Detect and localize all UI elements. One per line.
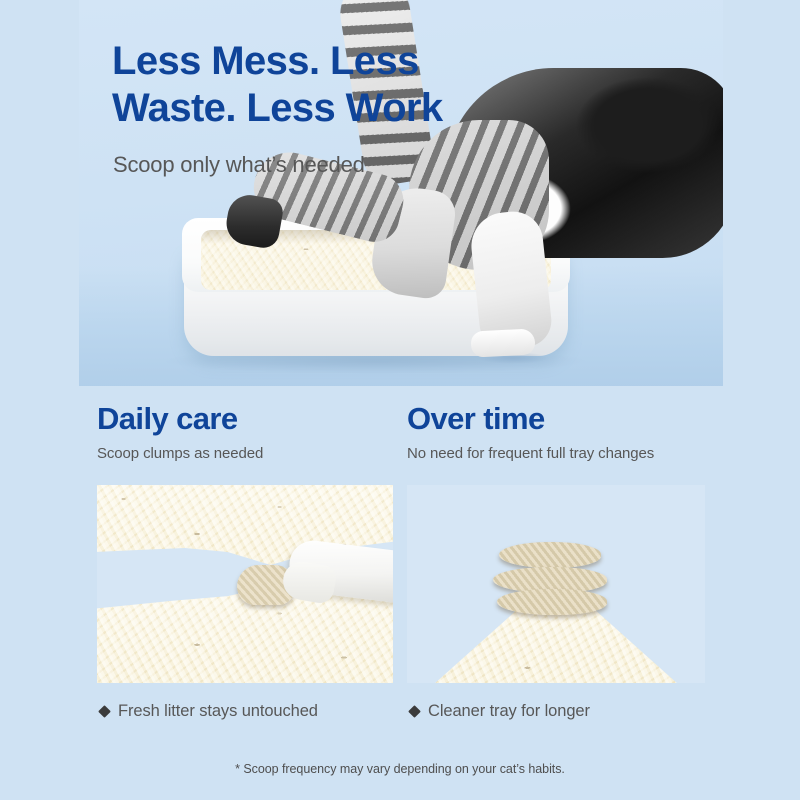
bullet-label: Fresh litter stays untouched <box>118 702 318 721</box>
bullet-fresh-litter: Fresh litter stays untouched <box>100 702 318 721</box>
clump-layer-top <box>499 542 601 568</box>
cat-rear-paw <box>470 328 535 357</box>
section-over-time-heading: Over time No need for frequent full tray… <box>407 400 705 462</box>
section-subtitle: No need for frequent full tray changes <box>407 445 705 462</box>
section-title: Over time <box>407 400 705 438</box>
promo-page: Less Mess. Less Waste. Less Work Scoop o… <box>0 0 800 800</box>
section-daily-care-heading: Daily care Scoop clumps as needed <box>97 400 393 462</box>
cat-lifted-paw <box>223 192 285 251</box>
bullet-cleaner-tray: Cleaner tray for longer <box>410 702 590 721</box>
section-title: Daily care <box>97 400 393 438</box>
daily-care-photo <box>97 485 393 683</box>
page-title: Less Mess. Less Waste. Less Work <box>112 38 532 132</box>
footnote: * Scoop frequency may vary depending on … <box>0 762 800 776</box>
over-time-photo <box>407 485 705 683</box>
page-subtitle: Scoop only what’s needed <box>113 152 365 178</box>
diamond-bullet-icon <box>408 705 421 718</box>
bullet-label: Cleaner tray for longer <box>428 702 590 721</box>
section-subtitle: Scoop clumps as needed <box>97 445 393 462</box>
diamond-bullet-icon <box>98 705 111 718</box>
clump-layer-bottom <box>497 589 607 615</box>
